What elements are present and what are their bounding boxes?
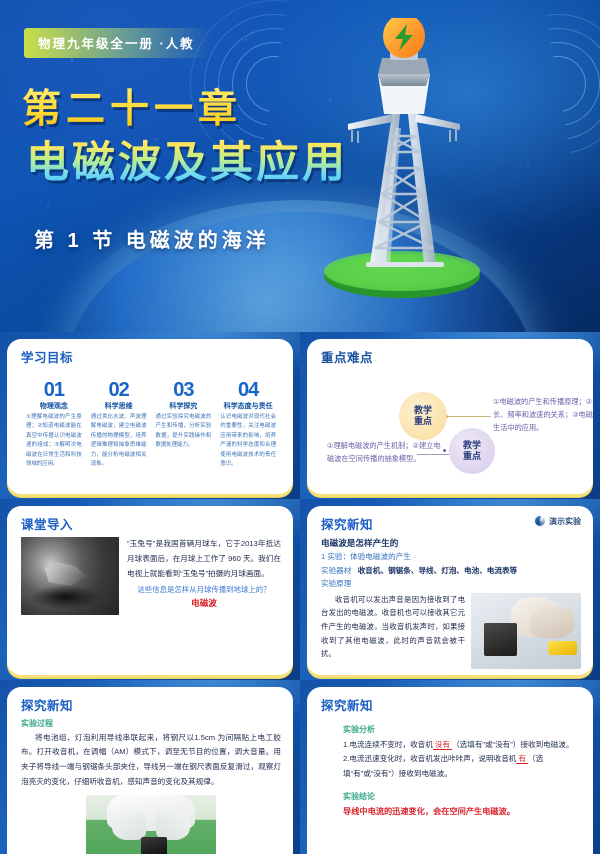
slide-deck-page: 物理九年级全一册 ·人教 第二十一章 电磁波及其应用 第 1 节 电磁波的海洋 … <box>0 0 600 854</box>
bubble-line-1: 教学 <box>414 405 432 416</box>
intro-answer: 电磁波 <box>127 597 281 609</box>
objective-number: 03 <box>153 380 215 400</box>
hero-banner: 物理九年级全一册 ·人教 第二十一章 电磁波及其应用 第 1 节 电磁波的海洋 <box>0 0 600 332</box>
objective-heading: 科学态度与责任 <box>217 401 279 411</box>
intro-question: 这些信息是怎样从月球传播到地球上的？ <box>127 584 281 595</box>
explore1-principle-label: 实验原理 <box>321 578 581 591</box>
objective-number: 02 <box>88 380 150 400</box>
card-cell-explore-1: 探究新知 演示实验 电磁波是怎样产生的 1 实验：体验电磁波的产生 实验器材 收… <box>300 499 600 680</box>
objective-heading: 科学探究 <box>153 401 215 411</box>
course-badge: 物理九年级全一册 ·人教 <box>24 28 211 58</box>
card-cell-explore-3: 探究新知 实验分析 1.电流连续不变时，收音机没有（选填有”或“没有”）接收到电… <box>300 680 600 854</box>
objective-item-2: 02 科学思维 通过类比水波、声波理解电磁波，建立电磁波传播的物理模型，培养逻辑… <box>88 380 150 470</box>
card-cell-explore-2: 探究新知 实验过程 将电池组、灯泡利用导线串联起来，将钢尺以1.5cm 为间隔贴… <box>0 680 300 854</box>
intro-paragraph: “玉兔号”是我国首辆月球车，它于2013年抵达月球表面后，在月球上工作了 960… <box>127 537 281 581</box>
keypoints-right-text: ①电磁波的产生和传播原理；②波长、频率和波速的关系；③电磁波在生活中的应用。 <box>493 396 593 435</box>
explore3-title: 探究新知 <box>321 695 581 714</box>
analysis-1-pre: 1.电流连续不变时，收音机 <box>343 740 433 749</box>
keypoints-card[interactable]: 重点难点 教学 重点 ①电磁波的产生和传播原理；②波长、频率和波速的关系；③电磁… <box>307 339 593 494</box>
explore1-subheading: 电磁波是怎样产生的 <box>321 537 581 549</box>
radio-experiment-photo <box>471 593 581 669</box>
analysis-item-2: 2.电流迅速变化时，收音机发出咔咔声，说明收音机有（选填“有”或“没有”）接收到… <box>343 752 581 782</box>
play-swirl-icon <box>534 515 546 527</box>
experiment-hands-photo <box>86 795 216 854</box>
explore1-principle-row: 收音机可以发出声音是因为接收到了电台发出的电磁波。收音机也可以接收其它元件产生的… <box>321 593 581 669</box>
demo-experiment-label: 演示实验 <box>549 516 581 527</box>
analysis-2-pre: 2.电流迅速变化时，收音机发出咔咔声，说明收音机 <box>343 754 516 763</box>
explore2-title: 探究新知 <box>21 695 281 714</box>
intro-card[interactable]: 课堂导入 “玉兔号”是我国首辆月球车，它于2013年抵达月球表面后，在月球上工作… <box>7 506 293 675</box>
section-subtitle: 第 1 节 电磁波的海洋 <box>34 224 270 253</box>
demo-experiment-tag[interactable]: 演示实验 <box>534 515 581 527</box>
card-cell-keypoints: 重点难点 教学 重点 ①电磁波的产生和传播原理；②波长、频率和波速的关系；③电磁… <box>300 332 600 499</box>
objective-body: ①理解电磁波的产生原理；②知道电磁波能在真空中传播认识电磁波速的组成；③解明次电… <box>23 413 85 470</box>
slide-card-grid: 学习目标 01 物理观念 ①理解电磁波的产生原理；②知道电磁波能在真空中传播认识… <box>0 332 600 854</box>
explore1-experiment-line: 1 实验：体验电磁波的产生 <box>321 551 581 564</box>
objective-heading: 科学思维 <box>88 401 150 411</box>
objective-body: 认识电磁波对现代社会的重要性，关注电磁波应用带来的影响，培养严谨的科学态度和合理… <box>217 413 279 470</box>
intro-content: “玉兔号”是我国首辆月球车，它于2013年抵达月球表面后，在月球上工作了 960… <box>21 537 281 615</box>
explore2-process-label: 实验过程 <box>21 718 281 729</box>
objective-body: 通过实验探究电磁波的产生和传播，分析实验数据，提升实践操作和数据处理能力。 <box>153 413 215 451</box>
analysis-label: 实验分析 <box>343 724 581 735</box>
objectives-title: 学习目标 <box>21 347 281 366</box>
chapter-subject-title: 电磁波及其应用 <box>26 128 348 190</box>
card-cell-objectives: 学习目标 01 物理观念 ①理解电磁波的产生原理；②知道电磁波能在真空中传播认识… <box>0 332 300 499</box>
chapter-title: 第二十一章 <box>22 78 242 134</box>
mindmap-bubble-teaching-focus[interactable]: 教学 重点 <box>399 392 447 440</box>
objective-number: 01 <box>23 380 85 400</box>
analysis-1-blank[interactable]: 没有 <box>433 740 452 750</box>
objective-item-4: 04 科学态度与责任 认识电磁波对现代社会的重要性，关注电磁波应用带来的影响，培… <box>217 380 279 470</box>
explore1-materials-row: 实验器材 收音机、钢锯条、导线、灯泡、电池、电流表等 <box>321 565 581 578</box>
objectives-columns: 01 物理观念 ①理解电磁波的产生原理；②知道电磁波能在真空中传播认识电磁波速的… <box>21 380 281 470</box>
bubble-line-2: 重点 <box>463 451 481 462</box>
materials-value: 收音机、钢锯条、导线、灯泡、电池、电流表等 <box>358 566 517 575</box>
keypoints-mindmap: 教学 重点 ①电磁波的产生和传播原理；②波长、频率和波速的关系；③电磁波在生活中… <box>321 370 581 488</box>
intro-title: 课堂导入 <box>21 514 281 533</box>
materials-label: 实验器材 <box>321 566 351 575</box>
bubble-line-1: 教学 <box>463 440 481 451</box>
conclusion-text: 导线中电流的迅速变化，会在空间产生电磁波。 <box>343 805 581 817</box>
card-cell-intro: 课堂导入 “玉兔号”是我国首辆月球车，它于2013年抵达月球表面后，在月球上工作… <box>0 499 300 680</box>
keypoints-title: 重点难点 <box>321 347 581 366</box>
objectives-card[interactable]: 学习目标 01 物理观念 ①理解电磁波的产生原理；②知道电磁波能在真空中传播认识… <box>7 339 293 494</box>
analysis-1-post: （选填有”或“没有”）接收到电磁波。 <box>452 740 574 749</box>
explore1-principle-text: 收音机可以发出声音是因为接收到了电台发出的电磁波。收音机也可以接收其它元件产生的… <box>321 593 465 669</box>
analysis-2-blank[interactable]: 有 <box>516 754 528 764</box>
explore3-analysis-block: 实验分析 1.电流连续不变时，收音机没有（选填有”或“没有”）接收到电磁波。 2… <box>321 724 581 817</box>
objective-number: 04 <box>217 380 279 400</box>
keypoints-left-text: ①理解电磁波的产生机制；②建立电磁波在空间传播的抽象模型。 <box>327 440 445 466</box>
mindmap-connector-1 <box>447 416 491 417</box>
analysis-item-1: 1.电流连续不变时，收音机没有（选填有”或“没有”）接收到电磁波。 <box>343 738 581 753</box>
objective-item-1: 01 物理观念 ①理解电磁波的产生原理；②知道电磁波能在真空中传播认识电磁波速的… <box>23 380 85 470</box>
explore3-card[interactable]: 探究新知 实验分析 1.电流连续不变时，收音机没有（选填有”或“没有”）接收到电… <box>307 687 593 854</box>
explore2-process-text: 将电池组、灯泡利用导线串联起来，将钢尺以1.5cm 为间隔贴上电工胶布。打开收音… <box>21 731 281 790</box>
objective-body: 通过类比水波、声波理解电磁波，建立电磁波传播的物理模型，培养逻辑推理和抽象思维能… <box>88 413 150 470</box>
explore2-card[interactable]: 探究新知 实验过程 将电池组、灯泡利用导线串联起来，将钢尺以1.5cm 为间隔贴… <box>7 687 293 854</box>
bubble-line-2: 重点 <box>414 416 432 427</box>
mindmap-bubble-teaching-difficulty[interactable]: 教学 重点 <box>449 428 495 474</box>
yutu-rover-photo <box>21 537 119 615</box>
objective-heading: 物理观念 <box>23 401 85 411</box>
conclusion-label: 实验结论 <box>343 791 581 802</box>
explore1-card[interactable]: 探究新知 演示实验 电磁波是怎样产生的 1 实验：体验电磁波的产生 实验器材 收… <box>307 506 593 675</box>
objective-item-3: 03 科学探究 通过实验探究电磁波的产生和传播，分析实验数据，提升实践操作和数据… <box>153 380 215 470</box>
